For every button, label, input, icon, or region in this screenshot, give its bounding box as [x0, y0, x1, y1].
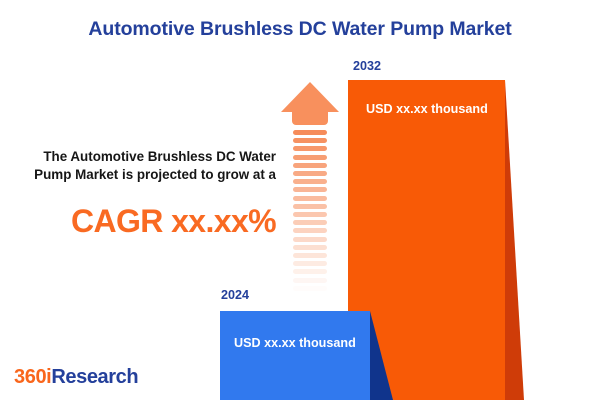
upward-growth-arrow-icon — [281, 82, 339, 280]
arrow-shaft-stripe — [293, 179, 327, 184]
cagr-value: CAGR xx.xx% — [8, 203, 276, 240]
arrow-shaft-stripe — [293, 278, 327, 283]
arrow-shaft-stripe — [293, 146, 327, 151]
arrow-shaft-stripe — [293, 220, 327, 225]
arrow-shaft-stripe — [293, 237, 327, 242]
year-label-2032: 2032 — [353, 59, 381, 73]
arrow-shaft-stripe — [293, 261, 327, 266]
logo-text-research: Research — [51, 366, 138, 388]
arrow-shaft-stripe — [293, 187, 327, 192]
arrow-shaft-stripe — [293, 245, 327, 250]
bar-2024-value-label: USD xx.xx thousand — [234, 336, 356, 350]
arrow-shaft-stripe — [293, 253, 327, 258]
arrow-shaft-stripe — [293, 228, 327, 233]
arrow-neck-icon — [292, 111, 328, 125]
arrow-shaft-stripe — [293, 130, 327, 135]
bar-2032-value-label: USD xx.xx thousand — [366, 102, 488, 116]
arrow-shaft-stripe — [293, 155, 327, 160]
bar-2032-side-face — [505, 80, 524, 400]
arrow-shaft-stripe — [293, 294, 327, 299]
year-label-2024: 2024 — [221, 288, 249, 302]
arrow-shaft-stripe — [293, 171, 327, 176]
infographic-canvas: Automotive Brushless DC Water Pump Marke… — [0, 0, 600, 400]
page-title: Automotive Brushless DC Water Pump Marke… — [0, 18, 600, 41]
arrow-shaft-stripe — [293, 212, 327, 217]
arrow-shaft-stripe — [293, 286, 327, 291]
bar-2024: USD xx.xx thousand — [220, 311, 370, 400]
growth-statement-text: The Automotive Brushless DC Water Pump M… — [8, 148, 276, 184]
arrow-shaft-stripe — [293, 302, 327, 307]
bar-2024-front-face — [220, 311, 370, 400]
arrow-shaft-stripe — [293, 269, 327, 274]
arrow-shaft-stripe — [293, 138, 327, 143]
brand-logo[interactable]: 360iResearch — [14, 366, 138, 389]
arrow-shaft-stripe — [293, 196, 327, 201]
arrow-head-icon — [281, 82, 339, 112]
logo-text-360i: 360i — [14, 366, 51, 388]
arrow-shaft-stripe — [293, 163, 327, 168]
arrow-shaft-stripe — [293, 204, 327, 209]
